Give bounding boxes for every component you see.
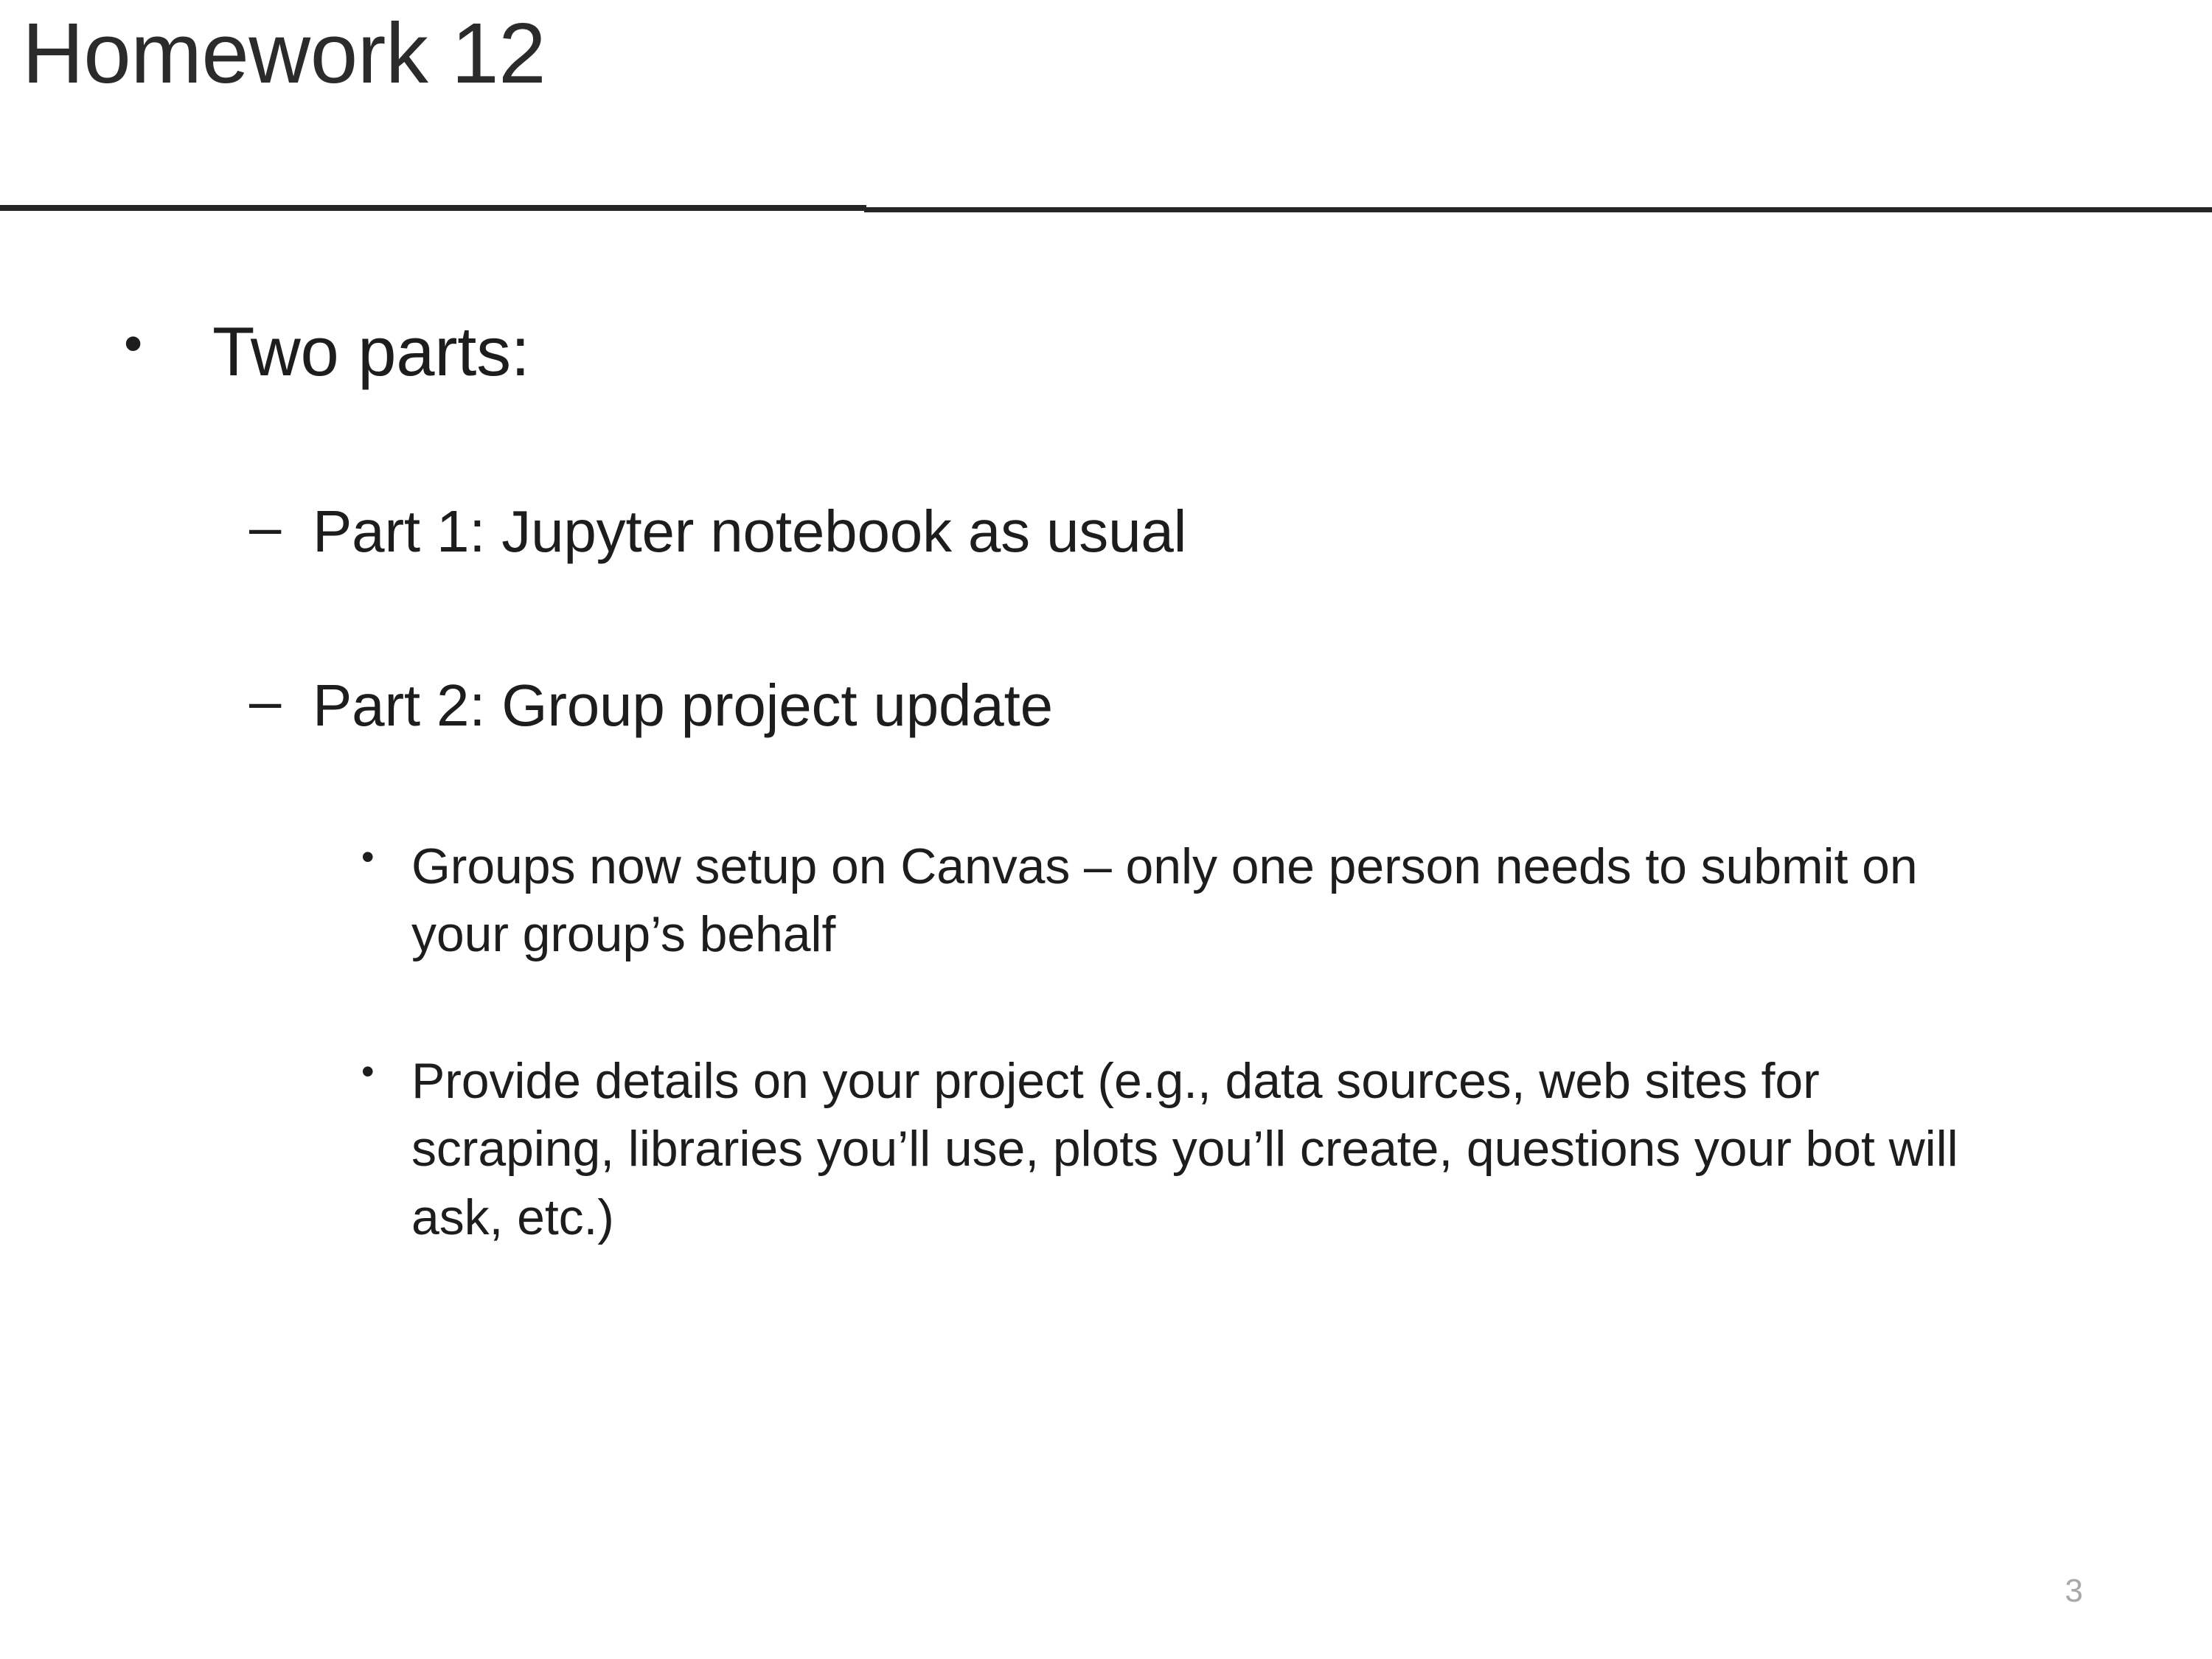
bullet-item-part1: – Part 1: Jupyter notebook as usual [0,501,2212,563]
slide-body: • Two parts: – Part 1: Jupyter notebook … [0,258,2212,1251]
title-divider-left-segment [0,205,866,211]
page-title: Homework 12 [22,6,546,102]
bullet-text-groups-canvas: Groups now setup on Canvas – only one pe… [411,832,1982,969]
bullet-text-part2: Part 2: Group project update [313,675,2212,737]
bullet-dash-icon: – [249,498,281,555]
bullet-text-intro: Two parts: [212,316,2212,389]
bullet-item-project-details: • Provide details on your project (e.g.,… [0,1047,2212,1251]
bullet-item-groups-canvas: • Groups now setup on Canvas – only one … [0,832,2212,969]
title-divider [0,205,2212,214]
bullet-item-part2: – Part 2: Group project update [0,675,2212,737]
bullet-dot-icon: • [361,1053,375,1090]
bullet-text-project-details: Provide details on your project (e.g., d… [411,1047,1982,1251]
bullet-dash-icon: – [249,672,281,729]
bullet-dot-icon: • [124,317,142,370]
page-number: 3 [2065,1575,2083,1607]
title-divider-right-segment [864,207,2212,212]
bullet-dot-icon: • [361,838,375,875]
bullet-text-part1: Part 1: Jupyter notebook as usual [313,501,2212,563]
bullet-item-intro: • Two parts: [0,316,2212,389]
